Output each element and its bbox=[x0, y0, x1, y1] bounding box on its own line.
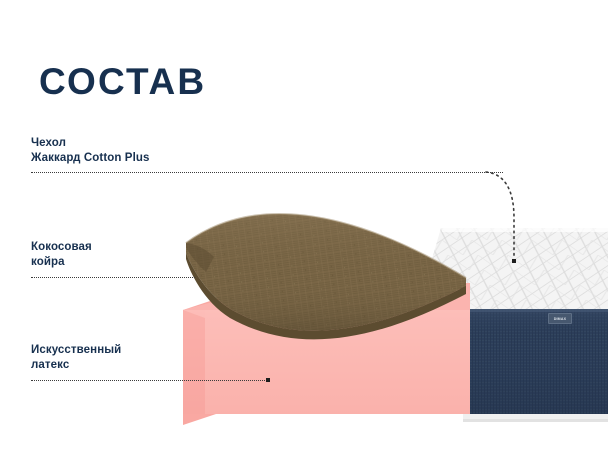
page-title: СОСТАВ bbox=[39, 63, 206, 100]
leader-line-cover bbox=[31, 172, 503, 173]
legend-cover-line2: Жаккард Cotton Plus bbox=[31, 151, 150, 166]
legend-label-latex: Искусственный латекс bbox=[31, 343, 121, 373]
brand-tag-label: DIMAX bbox=[554, 317, 567, 321]
brand-tag: DIMAX bbox=[548, 313, 572, 324]
leader-line-coir bbox=[31, 277, 195, 278]
leader-line-latex bbox=[31, 380, 267, 381]
legend-latex-line2: латекс bbox=[31, 358, 121, 373]
legend-latex-line1: Искусственный bbox=[31, 344, 121, 356]
legend-label-cover: Чехол Жаккард Cotton Plus bbox=[31, 136, 150, 166]
artificial-latex-block bbox=[183, 283, 470, 425]
coconut-coir-slab bbox=[186, 214, 466, 339]
leader-endpoint-cover bbox=[512, 259, 516, 263]
legend-cover-line1: Чехол bbox=[31, 137, 66, 149]
legend-label-coir: Кокосовая койра bbox=[31, 240, 92, 270]
leader-curve-cover bbox=[484, 166, 524, 266]
legend-coir-line2: койра bbox=[31, 255, 92, 270]
infographic-canvas: СОСТАВ bbox=[0, 0, 608, 456]
navy-side-panel bbox=[463, 309, 608, 414]
legend-coir-line1: Кокосовая bbox=[31, 241, 92, 253]
leader-endpoint-latex bbox=[266, 378, 270, 382]
